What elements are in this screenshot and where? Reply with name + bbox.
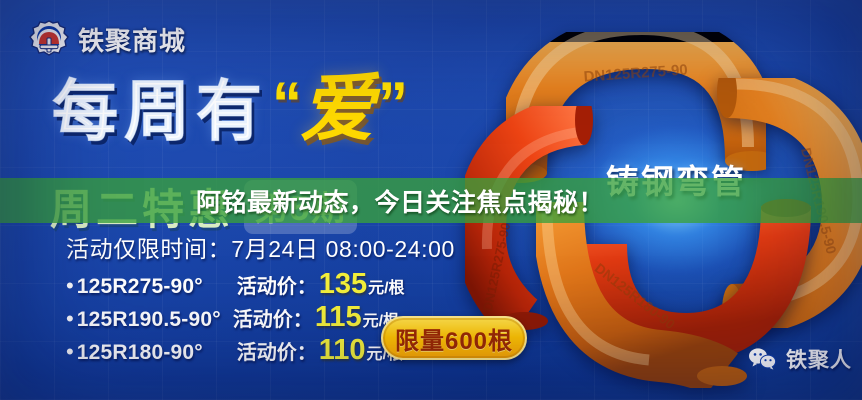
wechat-account-name: 铁聚人 — [786, 344, 852, 374]
activity-time: 活动仅限时间：7月24日 08:00-24:00 — [66, 230, 455, 264]
price-row: • 125R275-90° 活动价： 135 元/根 — [66, 268, 405, 301]
quote-open: “ — [272, 74, 302, 134]
price-amount: 135 — [319, 268, 367, 301]
promo-banner: DN125R275-90 DN125R190.5-90 — [0, 0, 862, 400]
limit-badge-text: 限量600根 — [395, 321, 513, 356]
brand-logo[interactable]: 铁聚商城 — [27, 18, 186, 60]
price-model: 125R180-90° — [77, 341, 225, 365]
headline-white-text: 每周有 — [52, 78, 268, 144]
price-row: • 125R190.5-90° 活动价： 115 元/根 — [66, 301, 405, 334]
bullet-icon: • — [66, 341, 74, 363]
headline-highlight-text: 爱 — [300, 74, 374, 144]
price-unit: 元/根 — [368, 274, 404, 298]
price-row: • 125R180-90° 活动价： 110 元/根 — [66, 334, 405, 367]
headline: 每周有 “ 爱 ” — [52, 74, 406, 144]
quote-close: ” — [378, 74, 408, 134]
price-label: 活动价： — [237, 270, 317, 299]
wechat-account[interactable]: 铁聚人 — [748, 344, 852, 374]
wechat-icon — [748, 347, 778, 371]
limit-badge: 限量600根 — [381, 316, 527, 360]
price-amount: 110 — [319, 334, 366, 367]
price-list: • 125R275-90° 活动价： 135 元/根 • 125R190.5-9… — [66, 268, 405, 367]
price-model: 125R275-90° — [77, 275, 225, 299]
bullet-icon: • — [66, 275, 74, 297]
bullet-icon: • — [66, 308, 74, 330]
logo-text: 铁聚商城 — [78, 21, 186, 58]
price-label: 活动价： — [237, 336, 317, 365]
price-label: 活动价： — [233, 303, 313, 332]
price-amount: 115 — [315, 301, 362, 334]
gear-anvil-icon — [27, 18, 71, 60]
price-model: 125R190.5-90° — [77, 308, 221, 332]
overlay-band-text: 阿铭最新动态，今日关注焦点揭秘！ — [0, 178, 862, 223]
